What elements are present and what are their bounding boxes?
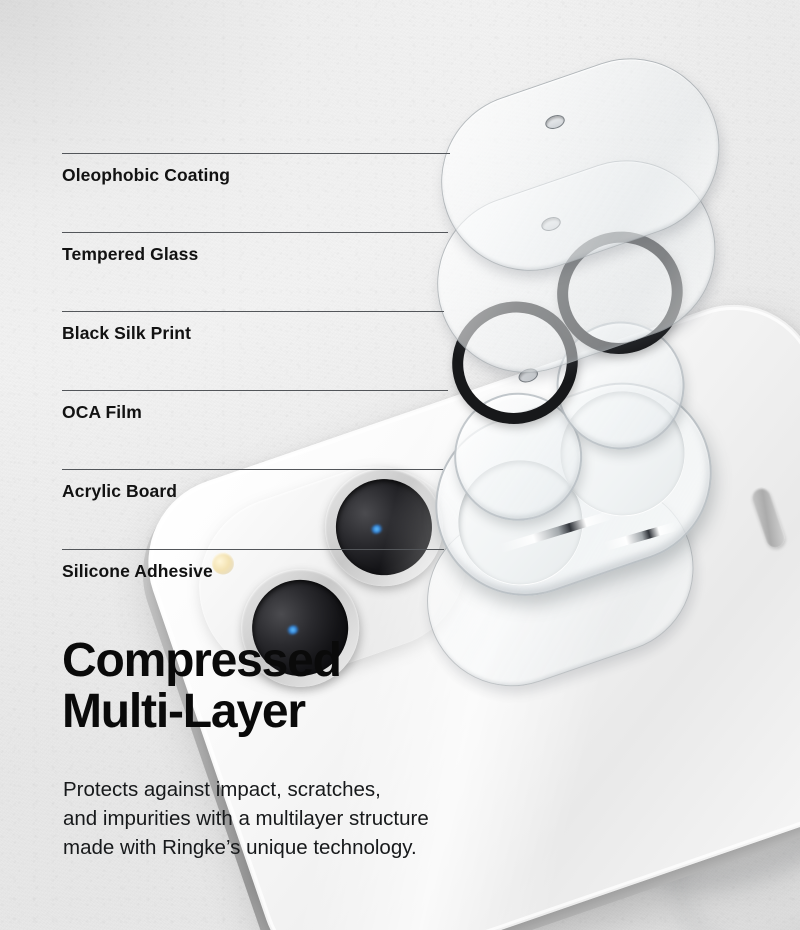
label-oleophobic-coating: Oleophobic Coating	[62, 165, 230, 186]
leader-line-black-silk-print	[62, 311, 444, 312]
leader-line-acrylic-board	[62, 469, 443, 470]
label-black-silk-print: Black Silk Print	[62, 323, 191, 344]
leader-line-silicone-adhesive	[62, 549, 444, 550]
leader-line-tempered-glass	[62, 232, 448, 233]
label-silicone-adhesive: Silicone Adhesive	[62, 561, 213, 582]
leader-line-oca-film	[62, 390, 448, 391]
page-title: Compressed Multi-Layer	[62, 636, 341, 738]
description-text: Protects against impact, scratches, and …	[63, 775, 429, 862]
label-oca-film: OCA Film	[62, 402, 142, 423]
camera-flash-icon	[209, 550, 237, 578]
leader-line-oleophobic-coating	[62, 153, 450, 154]
label-acrylic-board: Acrylic Board	[62, 481, 177, 502]
label-tempered-glass: Tempered Glass	[62, 244, 198, 265]
infographic-root: Oleophobic Coating Tempered Glass Black …	[0, 0, 800, 930]
